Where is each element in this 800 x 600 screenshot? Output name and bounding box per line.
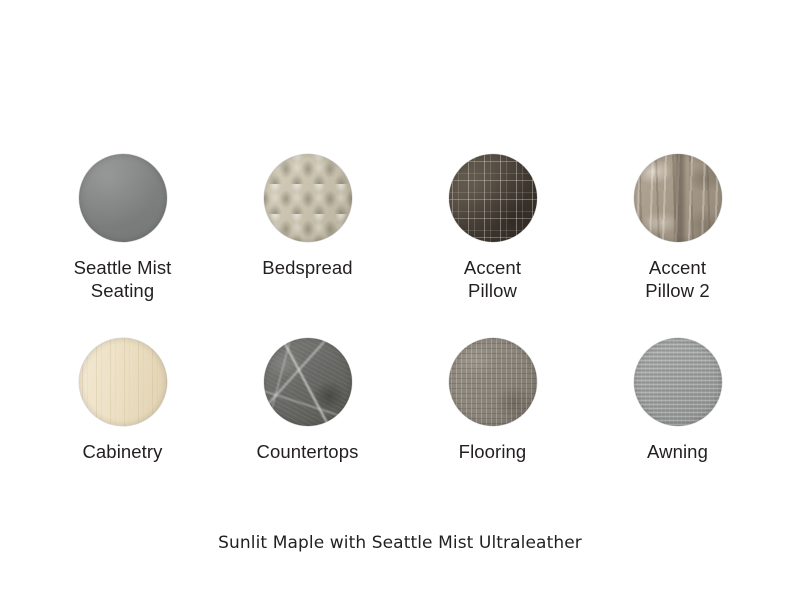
board-caption: Sunlit Maple with Seattle Mist Ultraleat… [0, 533, 800, 553]
swatch-disc-accent-pillow-2[interactable] [634, 154, 722, 242]
swatch-disc-accent-pillow[interactable] [449, 154, 537, 242]
swatch-disc-bedspread[interactable] [264, 154, 352, 242]
swatch-label-accent-pillow-2: Accent Pillow 2 [645, 256, 710, 302]
swatch-grid: Seattle Mist Seating Bedspread Accent Pi… [30, 154, 770, 522]
swatch-disc-countertops[interactable] [264, 338, 352, 426]
swatch-item-bedspread[interactable]: Bedspread [215, 154, 400, 338]
swatch-item-seattle-mist-seating[interactable]: Seattle Mist Seating [30, 154, 215, 338]
swatch-item-accent-pillow-2[interactable]: Accent Pillow 2 [585, 154, 770, 338]
swatch-label-countertops: Countertops [257, 440, 359, 463]
swatch-label-flooring: Flooring [459, 440, 527, 463]
swatch-item-cabinetry[interactable]: Cabinetry [30, 338, 215, 522]
swatch-disc-cabinetry[interactable] [79, 338, 167, 426]
swatch-label-accent-pillow: Accent Pillow [464, 256, 521, 302]
swatch-item-awning[interactable]: Awning [585, 338, 770, 522]
swatch-disc-seattle-mist-seating[interactable] [79, 154, 167, 242]
material-palette-board: Seattle Mist Seating Bedspread Accent Pi… [0, 0, 800, 600]
swatch-item-countertops[interactable]: Countertops [215, 338, 400, 522]
swatch-item-flooring[interactable]: Flooring [400, 338, 585, 522]
swatch-label-bedspread: Bedspread [262, 256, 352, 279]
swatch-disc-awning[interactable] [634, 338, 722, 426]
swatch-label-cabinetry: Cabinetry [82, 440, 162, 463]
swatch-label-seattle-mist-seating: Seattle Mist Seating [74, 256, 172, 302]
swatch-item-accent-pillow[interactable]: Accent Pillow [400, 154, 585, 338]
swatch-label-awning: Awning [647, 440, 708, 463]
swatch-disc-flooring[interactable] [449, 338, 537, 426]
